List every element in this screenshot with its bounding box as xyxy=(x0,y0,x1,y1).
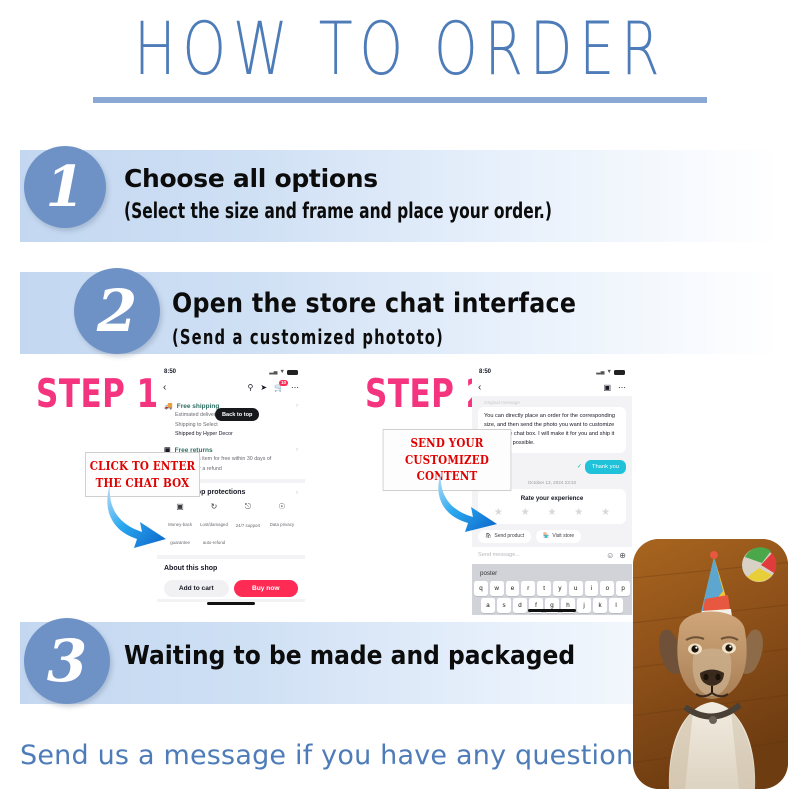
step-2-text: Open the store chat interface (Send a cu… xyxy=(172,288,631,349)
step-1-number-badge: 1 xyxy=(24,146,106,228)
step-3-heading: Waiting to be made and packaged xyxy=(124,641,575,671)
protection-item: ☉ Data privacy xyxy=(266,502,298,549)
key-s[interactable]: s xyxy=(497,598,511,613)
home-indicator xyxy=(528,609,576,612)
on-screen-keyboard: poster q w e r t y u i o p a s d f g h j… xyxy=(472,564,632,615)
step-1-subheading: (Select the size and frame and place you… xyxy=(124,199,552,223)
outgoing-message-bubble: Thank you xyxy=(585,460,626,474)
title-underline xyxy=(93,97,707,103)
key-l[interactable]: l xyxy=(609,598,623,613)
callout-right-line-1: SEND YOUR xyxy=(385,435,508,452)
emoji-icon[interactable]: ☺ xyxy=(606,551,614,560)
shipping-title: Free shipping xyxy=(177,403,220,410)
key-q[interactable]: q xyxy=(474,581,488,596)
nav-actions: ⚲ ➤ 🛒 10 ⋯ xyxy=(247,383,299,392)
dog-with-party-hat-photo xyxy=(633,539,788,789)
status-bar: 8:50 ▂▄ ▼ xyxy=(472,365,632,379)
search-icon[interactable]: ⚲ xyxy=(247,383,253,392)
step-3-number-badge: 3 xyxy=(24,618,110,704)
purchase-bar: Add to cart Buy now xyxy=(157,577,305,599)
step-1-label: STEP 1: xyxy=(36,372,172,417)
check-icon: ✓ xyxy=(577,463,582,470)
protection-label: Data privacy xyxy=(270,522,294,527)
refresh-icon: ↻ xyxy=(198,502,230,511)
chevron-right-icon: › xyxy=(296,447,298,453)
key-u[interactable]: u xyxy=(569,581,583,596)
step-2-subheading: (Send a customized phototo) xyxy=(172,325,549,349)
status-time: 8:50 xyxy=(164,369,176,375)
key-k[interactable]: k xyxy=(593,598,607,613)
key-p[interactable]: p xyxy=(616,581,630,596)
about-shop-title: About this shop xyxy=(164,565,298,572)
footer-note: Send us a message if you have any questi… xyxy=(20,740,633,771)
share-icon[interactable]: ➤ xyxy=(260,383,267,392)
protection-label: Lost/damaged auto-refund xyxy=(200,522,228,545)
battery-icon xyxy=(614,370,625,375)
status-bar: 8:50 ▂▄ ▼ xyxy=(157,365,305,379)
plus-circle-icon[interactable]: ⊕ xyxy=(619,551,626,560)
buy-now-button[interactable]: Buy now xyxy=(234,580,299,597)
signal-icon: ▂▄ xyxy=(596,369,604,375)
star-icon[interactable]: ★ xyxy=(548,507,557,518)
blue-arrow-icon xyxy=(437,470,515,536)
image-icon[interactable]: ▣ xyxy=(603,383,611,392)
protections-grid: ▣ Money-back guarantee ↻ Lost/damaged au… xyxy=(164,502,298,549)
cart-badge: 10 xyxy=(279,380,288,386)
chevron-right-icon: › xyxy=(296,490,298,496)
star-icon[interactable]: ★ xyxy=(601,507,610,518)
page-title: HOW TO ORDER xyxy=(28,12,772,89)
product-nav-bar: ‹ ⚲ ➤ 🛒 10 ⋯ xyxy=(157,379,305,396)
key-o[interactable]: o xyxy=(600,581,614,596)
add-to-cart-button[interactable]: Add to cart xyxy=(164,580,229,597)
key-a[interactable]: a xyxy=(481,598,495,613)
shipping-seller: Shipped by Hyper Decor xyxy=(175,431,298,439)
key-y[interactable]: y xyxy=(553,581,567,596)
signal-icon: ▂▄ xyxy=(269,369,277,375)
lock-icon: ☉ xyxy=(266,502,298,511)
star-icon[interactable]: ★ xyxy=(574,507,583,518)
status-icons: ▂▄ ▼ xyxy=(269,369,298,375)
message-input[interactable]: Send message... xyxy=(478,552,601,558)
back-chevron-icon[interactable]: ‹ xyxy=(478,382,481,393)
visit-store-button[interactable]: 🏪 Visit store xyxy=(536,530,581,543)
key-j[interactable]: j xyxy=(577,598,591,613)
keyboard-suggestion[interactable]: poster xyxy=(474,566,630,581)
key-e[interactable]: e xyxy=(506,581,520,596)
back-chevron-icon[interactable]: ‹ xyxy=(163,382,166,393)
more-icon[interactable]: ⋯ xyxy=(291,383,299,392)
keyboard-row-1: q w e r t y u i o p xyxy=(474,581,630,596)
key-i[interactable]: i xyxy=(585,581,599,596)
protection-item: ⎋ 24/7 support xyxy=(232,502,264,549)
status-time: 8:50 xyxy=(479,369,491,375)
header: HOW TO ORDER xyxy=(0,12,800,103)
chat-nav-bar: ‹ ▣ ⋯ xyxy=(472,379,632,396)
original-message-label: Original message xyxy=(484,400,626,405)
step-3-text: Waiting to be made and packaged xyxy=(124,641,625,671)
blue-arrow-icon xyxy=(104,482,182,552)
chat-nav-actions: ▣ ⋯ xyxy=(603,383,626,392)
callout-left-line-1: CLICK TO ENTER xyxy=(88,458,197,475)
protection-label: 24/7 support xyxy=(236,523,260,528)
truck-icon: 🚚 xyxy=(164,402,173,410)
home-indicator xyxy=(207,602,255,605)
step-1-heading: Choose all options xyxy=(124,164,646,193)
more-icon[interactable]: ⋯ xyxy=(618,383,626,392)
dog-photo-illustration xyxy=(633,539,788,789)
visit-store-label: Visit store xyxy=(552,533,574,539)
key-d[interactable]: d xyxy=(513,598,527,613)
step-1-text: Choose all options (Select the size and … xyxy=(124,164,646,223)
protection-item: ↻ Lost/damaged auto-refund xyxy=(198,502,230,549)
chevron-right-icon: › xyxy=(296,403,298,409)
step-2-heading: Open the store chat interface xyxy=(172,288,576,319)
key-w[interactable]: w xyxy=(490,581,504,596)
store-icon: 🏪 xyxy=(543,533,549,539)
battery-icon xyxy=(287,370,298,375)
back-to-top-button[interactable]: Back to top xyxy=(215,408,259,421)
status-icons: ▂▄ ▼ xyxy=(596,369,625,375)
wifi-icon: ▼ xyxy=(280,369,285,375)
key-t[interactable]: t xyxy=(537,581,551,596)
shipping-destination: Shipping to Select xyxy=(175,422,298,430)
message-input-row[interactable]: Send message... ☺ ⊕ xyxy=(472,547,632,564)
star-icon[interactable]: ★ xyxy=(521,507,530,518)
wifi-icon: ▼ xyxy=(607,369,612,375)
step-2-number-badge: 2 xyxy=(74,268,160,354)
key-r[interactable]: r xyxy=(521,581,535,596)
headset-icon: ⎋ xyxy=(232,502,264,512)
